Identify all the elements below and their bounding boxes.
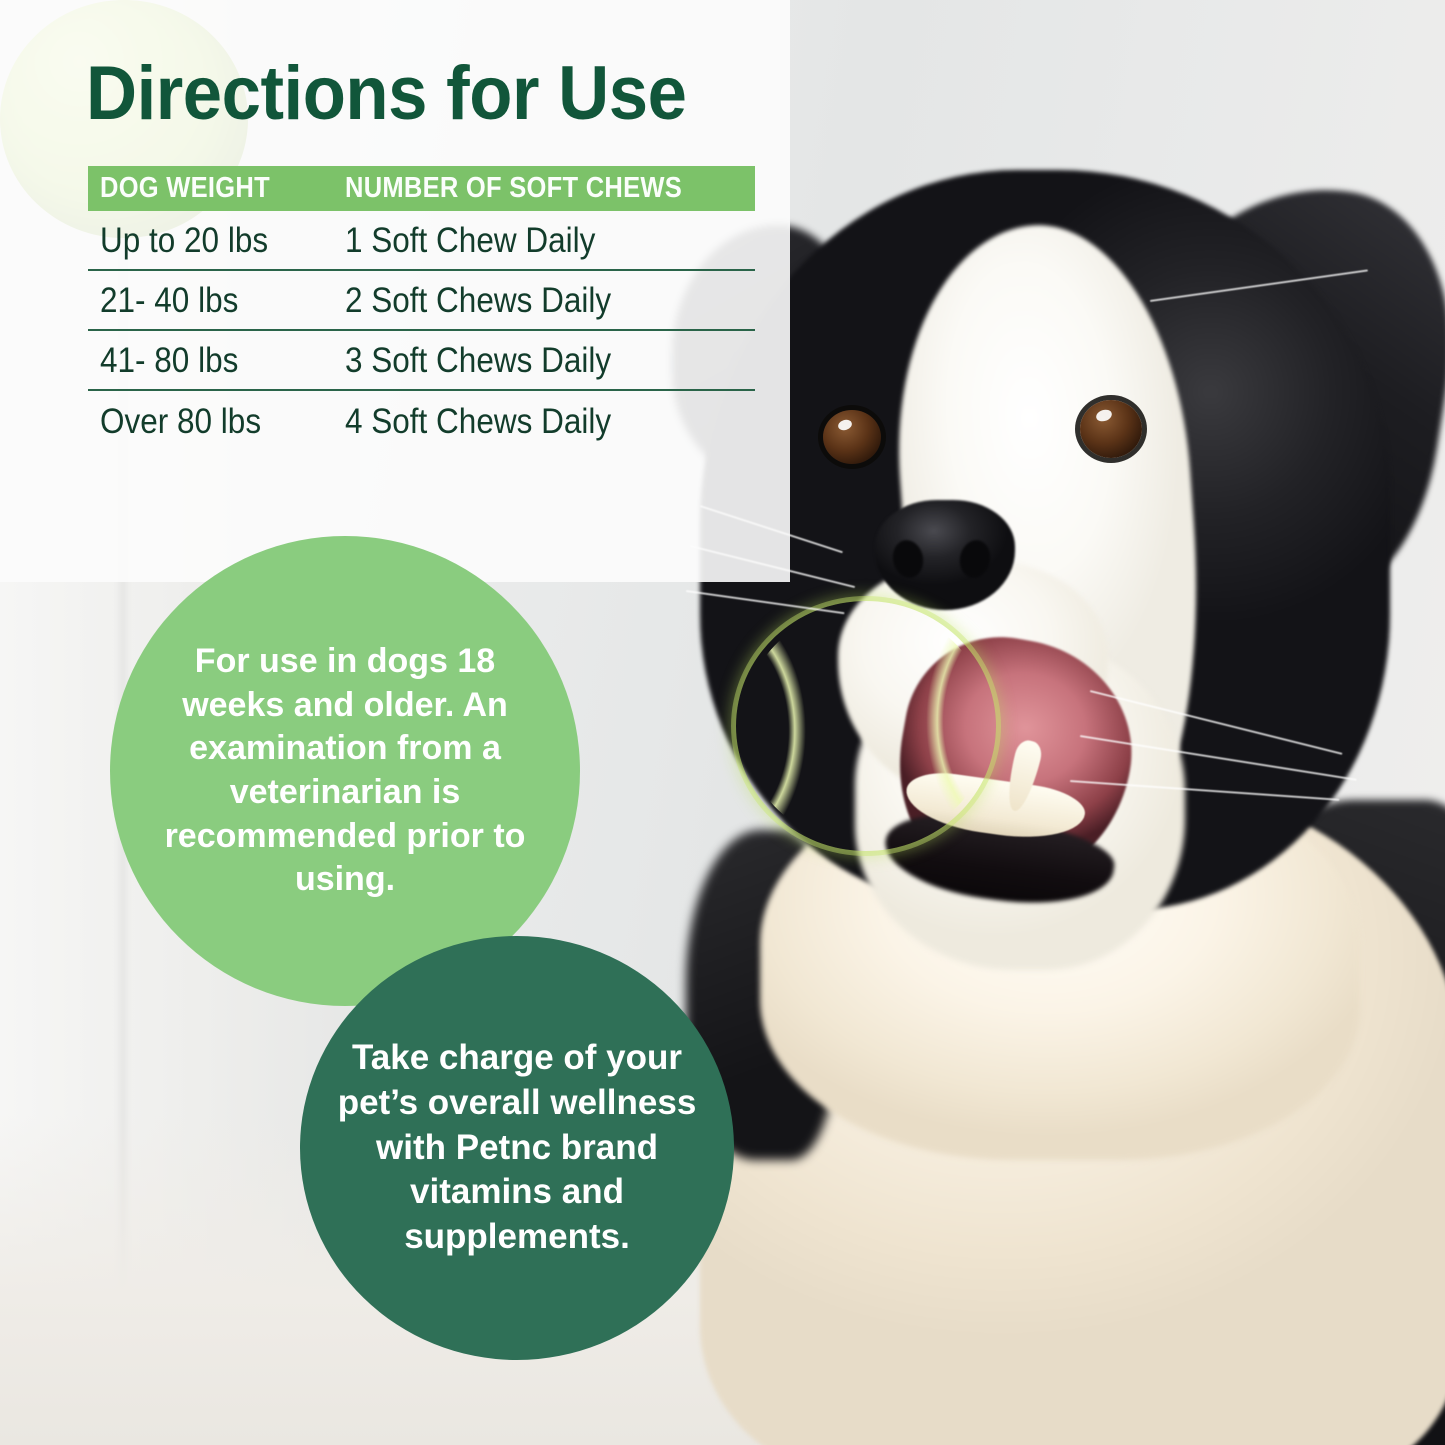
column-header-chews: NUMBER OF SOFT CHEWS	[345, 172, 682, 205]
cell-dose: 3 Soft Chews Daily	[345, 343, 611, 378]
badge-usage-text: For use in dogs 18 weeks and older. An e…	[145, 640, 545, 901]
table-header-row: DOG WEIGHT NUMBER OF SOFT CHEWS	[88, 166, 755, 211]
table-row: Over 80 lbs 4 Soft Chews Daily	[88, 391, 755, 451]
product-infographic: Directions for Use DOG WEIGHT NUMBER OF …	[0, 0, 1445, 1445]
cell-dose: 1 Soft Chew Daily	[345, 223, 595, 258]
column-header-weight: DOG WEIGHT	[100, 172, 316, 205]
cell-dose: 2 Soft Chews Daily	[345, 283, 611, 318]
table-row: 41- 80 lbs 3 Soft Chews Daily	[88, 331, 755, 391]
dosage-table: DOG WEIGHT NUMBER OF SOFT CHEWS Up to 20…	[88, 166, 755, 451]
table-row: Up to 20 lbs 1 Soft Chew Daily	[88, 211, 755, 271]
cell-weight: Up to 20 lbs	[100, 223, 321, 258]
directions-panel: Directions for Use DOG WEIGHT NUMBER OF …	[0, 0, 790, 582]
cell-weight: 21- 40 lbs	[100, 283, 321, 318]
badge-brand-message: Take charge of your pet’s overall wellne…	[300, 936, 734, 1360]
dog-eye-left	[823, 410, 881, 464]
cell-weight: Over 80 lbs	[100, 404, 321, 439]
tennis-ball-seam	[742, 607, 990, 845]
dog-eye-right	[1080, 400, 1142, 458]
cell-dose: 4 Soft Chews Daily	[345, 404, 611, 439]
page-title: Directions for Use	[86, 56, 686, 132]
cell-weight: 41- 80 lbs	[100, 343, 321, 378]
table-row: 21- 40 lbs 2 Soft Chews Daily	[88, 271, 755, 331]
badge-brand-text: Take charge of your pet’s overall wellne…	[322, 1036, 712, 1260]
